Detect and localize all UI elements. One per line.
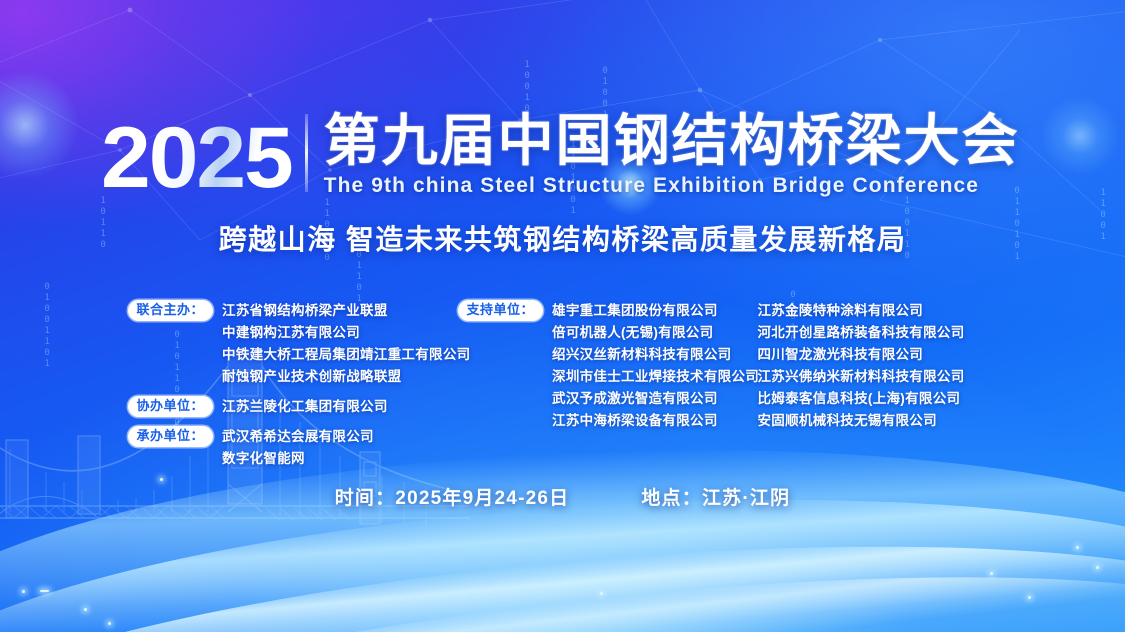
organizer-list: 武汉希希达会展有限公司 数字化智能网: [222, 426, 374, 470]
list-item: 倍可机器人(无锡)有限公司: [552, 322, 759, 344]
page-subtitle-en: The 9th china Steel Structure Exhibition…: [324, 174, 1020, 198]
banner-footer: 时间：2025年9月24-26日 地点：江苏·江阴: [0, 483, 1125, 510]
sparkle: [600, 592, 603, 595]
organizer-list: 江苏金陵特种涂料有限公司 河北开创星路桥装备科技有限公司 四川智龙激光科技有限公…: [758, 300, 965, 432]
organizer-group: 支持单位： 雄宇重工集团股份有限公司 倍可机器人(无锡)有限公司 绍兴汉丝新材料…: [458, 300, 758, 432]
event-location: 地点：江苏·江阴: [641, 483, 790, 510]
list-item: 绍兴汉丝新材料科技有限公司: [552, 344, 759, 366]
organizer-group: 承办单位： 武汉希希达会展有限公司 数字化智能网: [128, 426, 458, 470]
sparkle: [22, 590, 25, 593]
organizer-label: 协办单位：: [128, 396, 214, 417]
list-item: 中铁建大桥工程局集团靖江重工有限公司: [222, 344, 470, 366]
list-item: 武汉予成激光智造有限公司: [552, 388, 759, 410]
list-item: 安固顺机械科技无锡有限公司: [758, 410, 965, 432]
sparkle: [1096, 566, 1099, 569]
organizer-list: 江苏兰陵化工集团有限公司: [222, 396, 388, 418]
list-item: 深圳市佳士工业焊接技术有限公司: [552, 366, 759, 388]
organizers-column-right: 江苏金陵特种涂料有限公司 河北开创星路桥装备科技有限公司 四川智龙激光科技有限公…: [758, 300, 998, 470]
organizer-list: 江苏省钢结构桥梁产业联盟 中建钢构江苏有限公司 中铁建大桥工程局集团靖江重工有限…: [222, 300, 470, 388]
title-block: 第九届中国钢结构桥梁大会 The 9th china Steel Structu…: [324, 112, 1020, 198]
binary-column: 01101: [352, 250, 365, 305]
sparkle: [108, 622, 111, 625]
page-title: 第九届中国钢结构桥梁大会: [324, 112, 1020, 169]
organizer-list: 雄宇重工集团股份有限公司 倍可机器人(无锡)有限公司 绍兴汉丝新材料科技有限公司…: [552, 300, 759, 432]
year-label: 2025: [101, 119, 306, 198]
sparkle: [84, 608, 87, 611]
list-item: 江苏金陵特种涂料有限公司: [758, 300, 965, 322]
organizer-label: 支持单位：: [458, 300, 544, 321]
organizers-section: 联合主办： 江苏省钢结构桥梁产业联盟 中建钢构江苏有限公司 中铁建大桥工程局集团…: [0, 300, 1125, 470]
title-row: 2025 第九届中国钢结构桥梁大会 The 9th china Steel St…: [105, 112, 1019, 198]
slogan: 跨越山海 智造未来共筑钢结构桥梁高质量发展新格局: [219, 218, 907, 258]
banner-header: 2025 第九届中国钢结构桥梁大会 The 9th china Steel St…: [0, 112, 1125, 258]
sparkle: [1076, 546, 1079, 549]
organizer-group: 联合主办： 江苏省钢结构桥梁产业联盟 中建钢构江苏有限公司 中铁建大桥工程局集团…: [128, 300, 458, 388]
list-item: 江苏省钢结构桥梁产业联盟: [222, 300, 470, 322]
list-item: 中建钢构江苏有限公司: [222, 322, 470, 344]
list-item: 数字化智能网: [222, 448, 374, 470]
organizer-label: 承办单位：: [128, 426, 214, 447]
event-date: 时间：2025年9月24-26日: [335, 483, 570, 510]
organizer-group: 协办单位： 江苏兰陵化工集团有限公司: [128, 396, 458, 418]
organizers-column-middle: 支持单位： 雄宇重工集团股份有限公司 倍可机器人(无锡)有限公司 绍兴汉丝新材料…: [458, 300, 758, 470]
list-item: 武汉希希达会展有限公司: [222, 426, 374, 448]
list-item: 比姆泰客信息科技(上海)有限公司: [758, 388, 965, 410]
list-item: 四川智龙激光科技有限公司: [758, 344, 965, 366]
list-item: 江苏兴佛纳米新材料科技有限公司: [758, 366, 965, 388]
list-item: 江苏兰陵化工集团有限公司: [222, 396, 388, 418]
sparkle: [1028, 596, 1031, 599]
sparkle: [40, 590, 49, 592]
organizer-label: 联合主办：: [128, 300, 214, 321]
list-item: 耐蚀钢产业技术创新战略联盟: [222, 366, 470, 388]
list-item: 河北开创星路桥装备科技有限公司: [758, 322, 965, 344]
list-item: 雄宇重工集团股份有限公司: [552, 300, 759, 322]
list-item: 江苏中海桥梁设备有限公司: [552, 410, 759, 432]
conference-banner: 01001101 10110 0101101001 110010 01101 1…: [0, 0, 1125, 632]
sparkle: [990, 572, 993, 575]
organizer-group: 江苏金陵特种涂料有限公司 河北开创星路桥装备科技有限公司 四川智龙激光科技有限公…: [758, 300, 998, 432]
organizers-column-left: 联合主办： 江苏省钢结构桥梁产业联盟 中建钢构江苏有限公司 中铁建大桥工程局集团…: [128, 300, 458, 470]
